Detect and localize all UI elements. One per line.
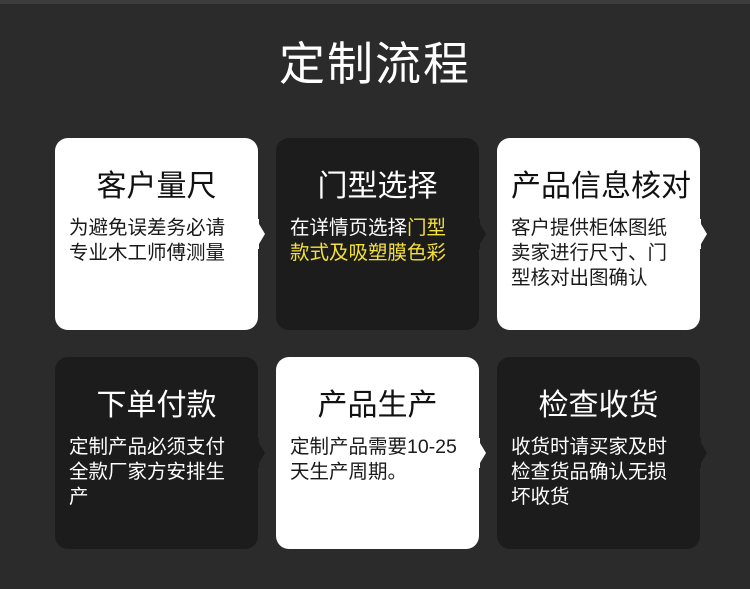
chevron-right-icon [698, 438, 707, 468]
page-title: 定制流程 [0, 36, 750, 92]
step-body: 定制产品需要10-25天生产周期。 [290, 435, 465, 485]
step-body-text: 定制产品需要10-25天生产周期。 [290, 436, 457, 483]
top-edge-strip [0, 0, 750, 4]
step-body-text: 在详情页选择 [290, 217, 407, 239]
process-step-card-4[interactable]: 下单付款 定制产品必须支付全款厂家方安排生产 [55, 357, 258, 549]
process-steps-row-1: 客户量尺 为避免误差务必请专业木工师傅测量 门型选择 在详情页选择门型款式及吸塑… [55, 138, 700, 330]
chevron-right-icon [256, 219, 265, 249]
step-title: 产品生产 [290, 389, 465, 423]
chevron-right-icon [477, 219, 486, 249]
step-body: 收货时请买家及时检查货品确认无损坏收货 [511, 435, 686, 510]
step-body: 定制产品必须支付全款厂家方安排生产 [69, 435, 244, 510]
step-body-text: 为避免误差务必请专业木工师傅测量 [69, 217, 225, 264]
chevron-right-icon [256, 438, 265, 468]
process-step-card-2[interactable]: 门型选择 在详情页选择门型款式及吸塑膜色彩 [276, 138, 479, 330]
process-steps-grid: 客户量尺 为避免误差务必请专业木工师傅测量 门型选择 在详情页选择门型款式及吸塑… [55, 138, 700, 549]
process-step-card-6[interactable]: 检查收货 收货时请买家及时检查货品确认无损坏收货 [497, 357, 700, 549]
process-step-card-5[interactable]: 产品生产 定制产品需要10-25天生产周期。 [276, 357, 479, 549]
step-title: 门型选择 [290, 170, 465, 204]
step-title: 下单付款 [69, 389, 244, 423]
process-step-card-1[interactable]: 客户量尺 为避免误差务必请专业木工师傅测量 [55, 138, 258, 330]
step-title: 客户量尺 [69, 170, 244, 204]
process-step-card-3[interactable]: 产品信息核对 客户提供柜体图纸卖家进行尺寸、门型核对出图确认 [497, 138, 700, 330]
step-body: 在详情页选择门型款式及吸塑膜色彩 [290, 216, 465, 266]
process-steps-row-2: 下单付款 定制产品必须支付全款厂家方安排生产 产品生产 定制产品需要10-25天… [55, 357, 700, 549]
step-body-text: 收货时请买家及时检查货品确认无损坏收货 [511, 436, 667, 508]
step-body-text: 定制产品必须支付全款厂家方安排生产 [69, 436, 225, 508]
step-title: 产品信息核对 [511, 170, 686, 204]
step-body: 客户提供柜体图纸卖家进行尺寸、门型核对出图确认 [511, 216, 686, 291]
step-body: 为避免误差务必请专业木工师傅测量 [69, 216, 244, 266]
step-body-text: 客户提供柜体图纸卖家进行尺寸、门型核对出图确认 [511, 217, 667, 289]
chevron-right-icon [477, 438, 486, 468]
chevron-right-icon [698, 219, 707, 249]
step-title: 检查收货 [511, 389, 686, 423]
